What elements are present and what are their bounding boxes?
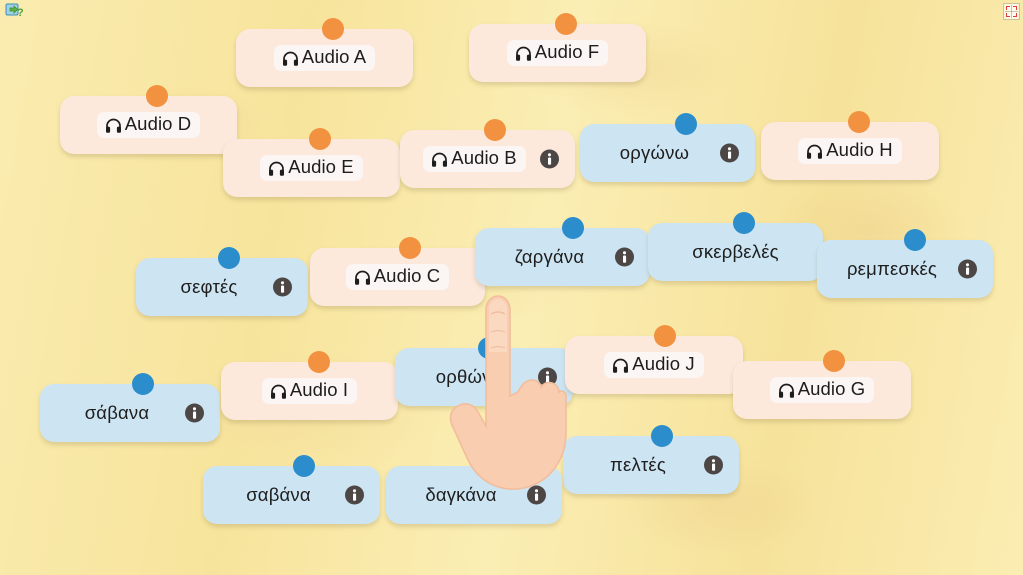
- orange-dot-icon: [848, 111, 870, 133]
- info-icon[interactable]: [273, 278, 292, 297]
- word-label: πελτές: [610, 456, 666, 475]
- card-content: Audio J: [565, 336, 743, 394]
- fullscreen-icon[interactable]: [1003, 3, 1020, 20]
- card-savana-blue[interactable]: σάβανα: [40, 384, 220, 442]
- headphones-icon: [267, 159, 286, 178]
- audio-label: Audio H: [826, 141, 893, 160]
- card-content: σάβανα: [40, 384, 220, 442]
- card-content: ρεμπεσκές: [817, 240, 993, 298]
- headphones-icon: [104, 116, 123, 135]
- word-label: σεφτές: [180, 278, 237, 297]
- audio-play-pill[interactable]: Audio F: [507, 40, 608, 66]
- card-audio-j[interactable]: Audio J: [565, 336, 743, 394]
- word-label: ρεμπεσκές: [847, 260, 937, 279]
- card-audio-g[interactable]: Audio G: [733, 361, 911, 419]
- headphones-icon: [430, 150, 449, 169]
- blue-dot-icon: [904, 229, 926, 251]
- orange-dot-icon: [146, 85, 168, 107]
- orange-dot-icon: [555, 13, 577, 35]
- blue-dot-icon: [675, 113, 697, 135]
- orange-dot-icon: [399, 237, 421, 259]
- card-audio-h[interactable]: Audio H: [761, 122, 939, 180]
- card-content: σκερβελές: [648, 223, 823, 281]
- audio-play-pill[interactable]: Audio B: [423, 146, 526, 172]
- card-content: Audio E: [223, 139, 400, 197]
- headphones-icon: [611, 356, 630, 375]
- card-content: οργώνω: [580, 124, 755, 182]
- info-icon[interactable]: [538, 368, 557, 387]
- audio-label: Audio J: [632, 355, 694, 374]
- headphones-icon: [269, 382, 288, 401]
- card-content: Audio C: [310, 248, 485, 306]
- card-audio-e[interactable]: Audio E: [223, 139, 400, 197]
- card-audio-f[interactable]: Audio F: [469, 24, 646, 82]
- card-content: ζαργάνα: [475, 228, 650, 286]
- headphones-icon: [805, 142, 824, 161]
- card-audio-i[interactable]: Audio I: [221, 362, 398, 420]
- info-icon[interactable]: [704, 456, 723, 475]
- info-icon[interactable]: [527, 486, 546, 505]
- orange-dot-icon: [322, 18, 344, 40]
- orange-dot-icon: [309, 128, 331, 150]
- card-content: πελτές: [563, 436, 739, 494]
- blue-dot-icon: [132, 373, 154, 395]
- audio-play-pill[interactable]: Audio C: [346, 264, 450, 290]
- audio-play-pill[interactable]: Audio H: [798, 138, 902, 164]
- card-orthono[interactable]: ορθώνω: [395, 348, 573, 406]
- card-skerveles[interactable]: σκερβελές: [648, 223, 823, 281]
- audio-label: Audio E: [288, 158, 354, 177]
- orange-dot-icon: [484, 119, 506, 141]
- card-content: Audio G: [733, 361, 911, 419]
- info-icon[interactable]: [720, 144, 739, 163]
- audio-label: Audio G: [798, 380, 866, 399]
- orange-dot-icon: [823, 350, 845, 372]
- orange-dot-icon: [308, 351, 330, 373]
- info-icon[interactable]: [185, 404, 204, 423]
- card-content: Audio I: [221, 362, 398, 420]
- card-content: Audio H: [761, 122, 939, 180]
- word-label: σάβανα: [85, 404, 150, 423]
- card-rempeskes[interactable]: ρεμπεσκές: [817, 240, 993, 298]
- card-dagkana[interactable]: δαγκάνα: [386, 466, 562, 524]
- orange-dot-icon: [654, 325, 676, 347]
- card-zargana[interactable]: ζαργάνα: [475, 228, 650, 286]
- blue-dot-icon: [293, 455, 315, 477]
- card-content: σαβάνα: [203, 466, 380, 524]
- audio-play-pill[interactable]: Audio G: [770, 377, 875, 403]
- card-content: Audio D: [60, 96, 237, 154]
- card-audio-c[interactable]: Audio C: [310, 248, 485, 306]
- card-audio-d[interactable]: Audio D: [60, 96, 237, 154]
- audio-label: Audio C: [374, 267, 441, 286]
- blue-dot-icon: [478, 337, 500, 359]
- blue-dot-icon: [733, 212, 755, 234]
- headphones-icon: [281, 49, 300, 68]
- help-badge-icon[interactable]: ?: [5, 2, 23, 20]
- card-audio-b[interactable]: Audio B: [400, 130, 575, 188]
- audio-play-pill[interactable]: Audio A: [274, 45, 375, 71]
- word-label: σαβάνα: [246, 486, 311, 505]
- blue-dot-icon: [562, 217, 584, 239]
- svg-text:?: ?: [17, 7, 23, 19]
- card-audio-a[interactable]: Audio A: [236, 29, 413, 87]
- info-icon[interactable]: [345, 486, 364, 505]
- word-matching-board: ? Audio AAudio FAudio DAudio EAudio Bοργ…: [0, 0, 1023, 575]
- audio-label: Audio B: [451, 149, 517, 168]
- card-content: δαγκάνα: [386, 466, 562, 524]
- info-icon[interactable]: [540, 150, 559, 169]
- info-icon[interactable]: [958, 260, 977, 279]
- audio-play-pill[interactable]: Audio D: [97, 112, 201, 138]
- blue-dot-icon: [651, 425, 673, 447]
- headphones-icon: [353, 268, 372, 287]
- audio-play-pill[interactable]: Audio E: [260, 155, 363, 181]
- word-label: δαγκάνα: [425, 486, 496, 505]
- card-savana-2[interactable]: σαβάνα: [203, 466, 380, 524]
- word-label: οργώνω: [620, 144, 689, 163]
- headphones-icon: [777, 381, 796, 400]
- audio-play-pill[interactable]: Audio I: [262, 378, 357, 404]
- word-label: σκερβελές: [692, 243, 779, 262]
- word-label: ζαργάνα: [515, 248, 584, 267]
- audio-label: Audio A: [302, 48, 366, 67]
- audio-label: Audio D: [125, 115, 192, 134]
- card-content: Audio A: [236, 29, 413, 87]
- card-seftes[interactable]: σεφτές: [136, 258, 308, 316]
- card-organono[interactable]: οργώνω: [580, 124, 755, 182]
- headphones-icon: [514, 44, 533, 63]
- audio-play-pill[interactable]: Audio J: [604, 352, 703, 378]
- word-label: ορθώνω: [436, 368, 506, 387]
- card-peltes[interactable]: πελτές: [563, 436, 739, 494]
- card-content: Audio F: [469, 24, 646, 82]
- audio-label: Audio F: [535, 43, 599, 62]
- audio-label: Audio I: [290, 381, 348, 400]
- blue-dot-icon: [474, 455, 496, 477]
- info-icon[interactable]: [615, 248, 634, 267]
- blue-dot-icon: [218, 247, 240, 269]
